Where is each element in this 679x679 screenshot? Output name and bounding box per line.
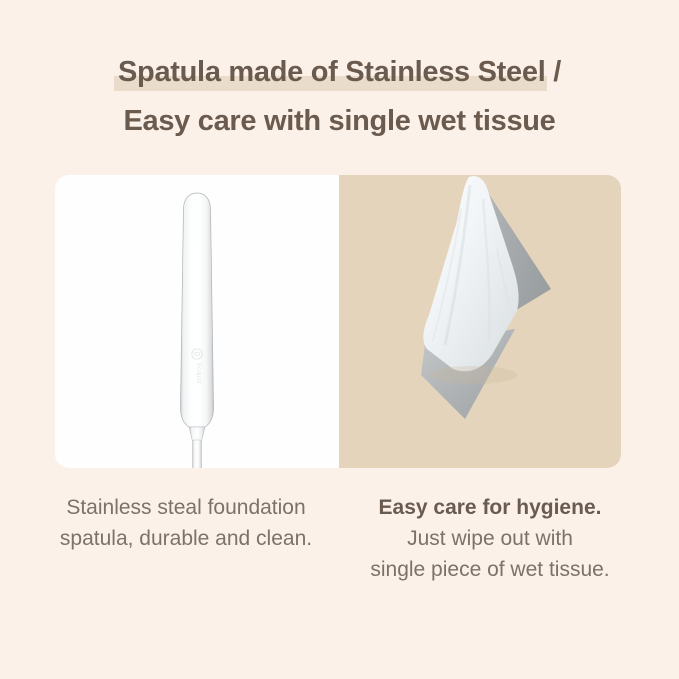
spatula-handle — [193, 440, 202, 468]
caption-spatula-line-1: Stainless steal foundation — [40, 492, 332, 523]
spatula-neck — [189, 427, 205, 441]
wet-tissue-icon — [365, 175, 595, 459]
caption-spatula: Stainless steal foundation spatula, dura… — [40, 492, 340, 554]
caption-wet-tissue: Easy care for hygiene. Just wipe out wit… — [340, 492, 640, 585]
tissue-shadow — [429, 366, 517, 384]
page-title-line-1-text: Spatula made of Stainless Steel — [118, 56, 545, 88]
highlighted-phrase: Spatula made of Stainless Steel — [118, 52, 545, 93]
page-title-line-1: Spatula made of Stainless Steel / — [0, 52, 679, 93]
caption-wet-tissue-line-3: single piece of wet tissue. — [340, 554, 640, 585]
caption-wet-tissue-line-2: Just wipe out with — [340, 523, 640, 554]
panel-wet-tissue — [339, 175, 621, 468]
caption-wet-tissue-line-1: Easy care for hygiene. — [340, 492, 640, 523]
page-title-line-1-tail: / — [545, 56, 561, 88]
svg-text:Sculpsit: Sculpsit — [195, 362, 201, 383]
spatula-icon: Sculpsit — [161, 191, 233, 468]
page-title-line-2: Easy care with single wet tissue — [0, 101, 679, 142]
caption-spatula-line-2: spatula, durable and clean. — [40, 523, 332, 554]
product-panels: Sculpsit — [55, 175, 621, 468]
caption-row: Stainless steal foundation spatula, dura… — [40, 492, 640, 585]
panel-spatula: Sculpsit — [55, 175, 339, 468]
page-title: Spatula made of Stainless Steel / Easy c… — [0, 52, 679, 142]
